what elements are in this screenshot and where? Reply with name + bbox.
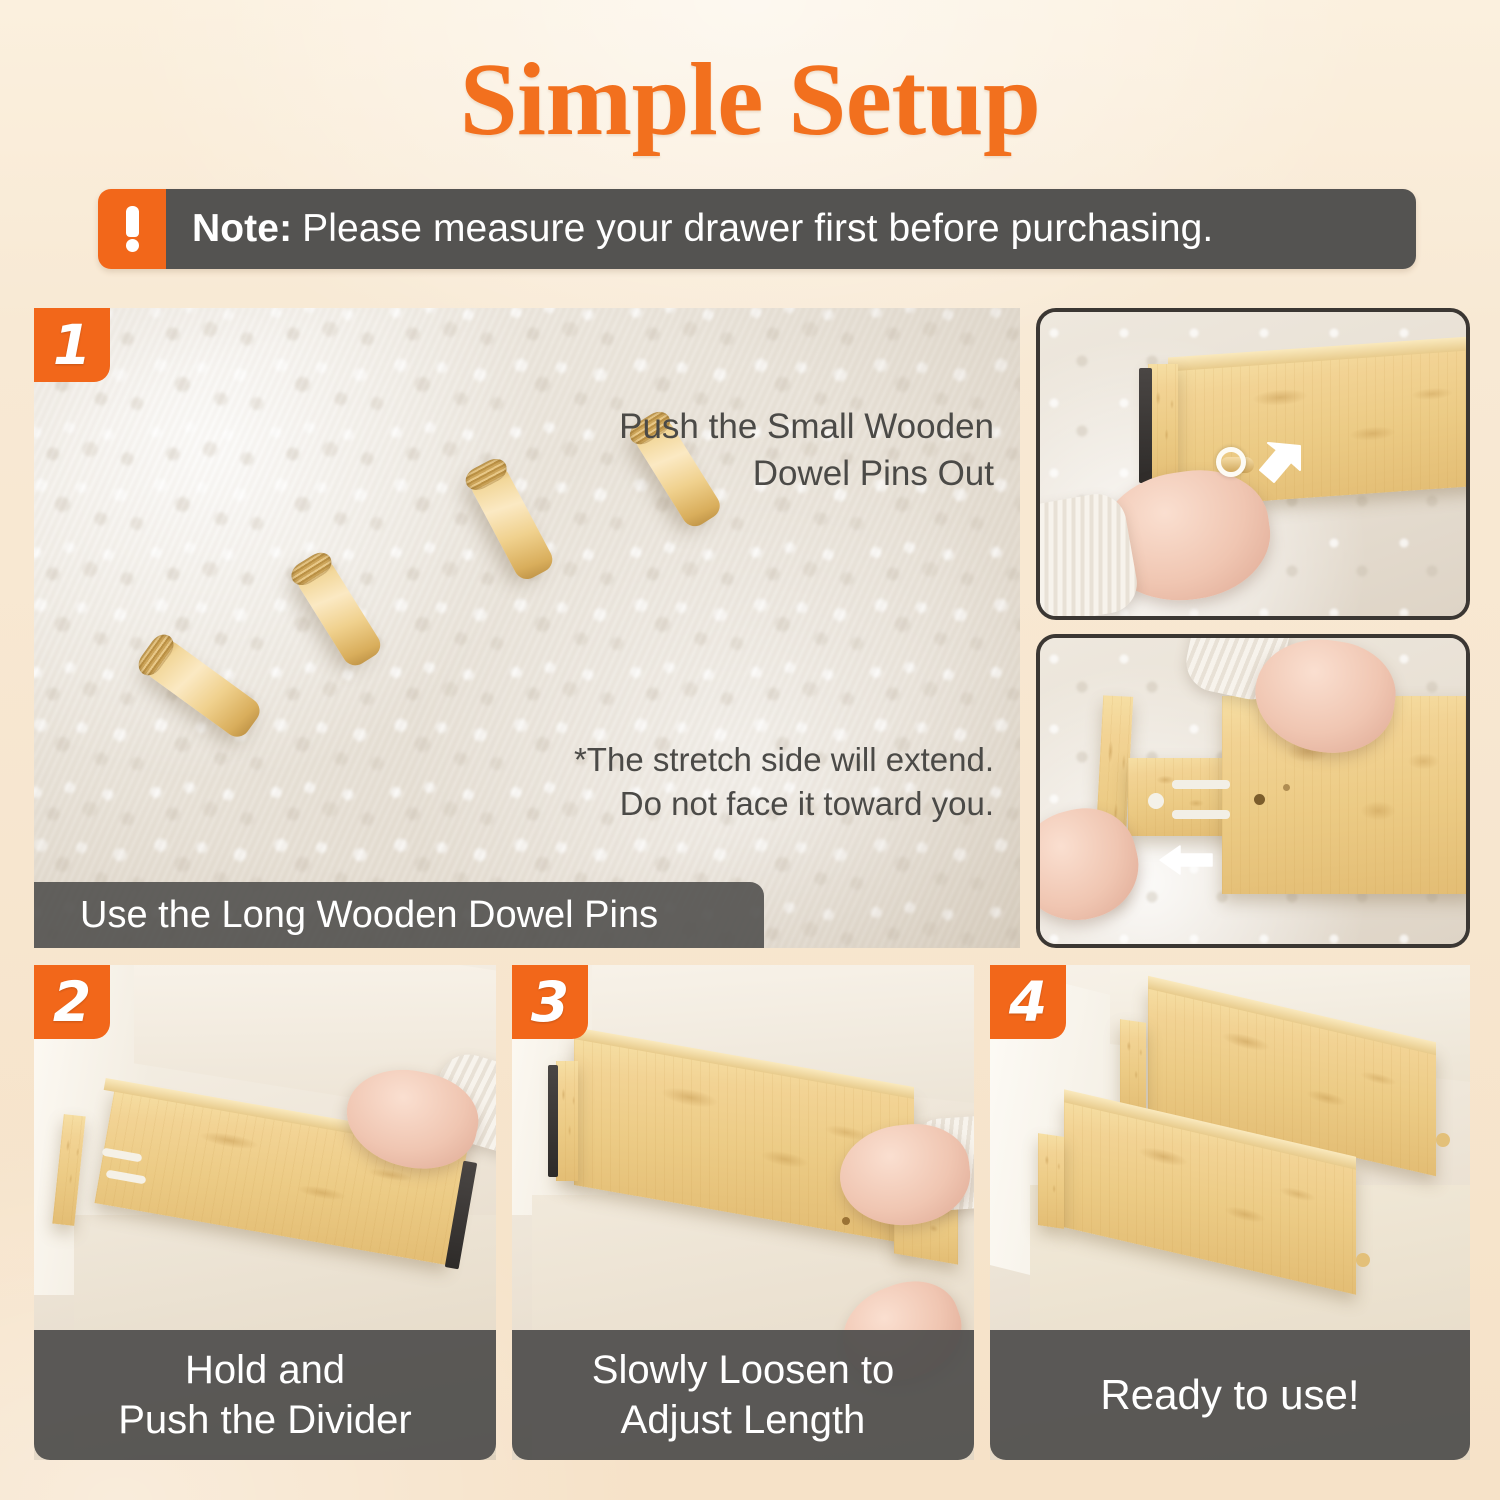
step-badge-2: 2 (34, 965, 110, 1039)
caption-line: Slowly Loosen to (592, 1345, 894, 1395)
rail-hole (1148, 793, 1164, 809)
note-banner: Note: Please measure your drawer first b… (98, 189, 1416, 269)
subpanel-extend-divider (1036, 634, 1470, 948)
annotation-line: *The stretch side will extend. (574, 741, 994, 778)
annotation-line: Push the Small (619, 407, 854, 446)
arrow-up-right-icon (1250, 440, 1306, 492)
annotation-stretch-side: *The stretch side will extend. Do not fa… (524, 738, 994, 826)
dowel-pin-head (1436, 1133, 1450, 1147)
divider-end-piece (1038, 1133, 1064, 1229)
annotation-line: Pins Out (860, 454, 994, 493)
caption-line: Hold and (185, 1345, 345, 1395)
note-text: Note: Please measure your drawer first b… (166, 189, 1416, 269)
step-1-photo-panel: 1 Push the Small Wooden Dowel Pins Out *… (34, 308, 1020, 948)
step-4-photo-panel: 4 Ready to use! (990, 965, 1470, 1460)
step-1-caption: Use the Long Wooden Dowel Pins (34, 882, 764, 948)
caption-line: Use the Long Wooden Dowel Pins (80, 894, 658, 937)
board-hole (1283, 784, 1290, 791)
caption-line: Ready to use! (1100, 1369, 1359, 1422)
push-dowel-photo (1040, 312, 1466, 616)
dowel-pin-head (1356, 1253, 1370, 1267)
divider-end-piece (1148, 364, 1178, 486)
rail-slot (1172, 810, 1230, 819)
board-hole (842, 1217, 850, 1225)
pin-highlight-ring (1216, 447, 1246, 477)
step-3-caption: Slowly Loosen to Adjust Length (512, 1330, 974, 1460)
step-2-photo-panel: 2 Hold and Push the Divider (34, 965, 496, 1460)
step-4-caption: Ready to use! (990, 1330, 1470, 1460)
infographic-page: Simple Setup Note: Please measure your d… (0, 0, 1500, 1500)
subpanel-push-dowel-out (1036, 308, 1470, 620)
arrow-left-icon (1158, 842, 1214, 878)
annotation-line: Do not face it toward you. (620, 785, 994, 822)
rail-slot (1172, 780, 1230, 789)
felt-pad (548, 1065, 558, 1177)
annotation-push-pins: Push the Small Wooden Dowel Pins Out (574, 404, 994, 497)
extend-divider-photo (1040, 638, 1466, 944)
caption-line: Push the Divider (118, 1395, 411, 1445)
divider-end-piece (1120, 1019, 1146, 1115)
note-label: Note: (192, 207, 292, 251)
note-message: Please measure your drawer first before … (302, 207, 1213, 251)
step-3-photo-panel: 3 Slowly Loosen to Adjust Length (512, 965, 974, 1460)
caption-line: Adjust Length (621, 1395, 866, 1445)
step-badge-3: 3 (512, 965, 588, 1039)
page-title: Simple Setup (0, 44, 1500, 156)
board-hole (1254, 794, 1265, 805)
exclamation-icon (98, 189, 166, 269)
step-badge-1: 1 (34, 308, 110, 382)
step-badge-4: 4 (990, 965, 1066, 1039)
divider-end-piece (556, 1061, 578, 1181)
step-2-caption: Hold and Push the Divider (34, 1330, 496, 1460)
felt-pad (1139, 368, 1152, 483)
